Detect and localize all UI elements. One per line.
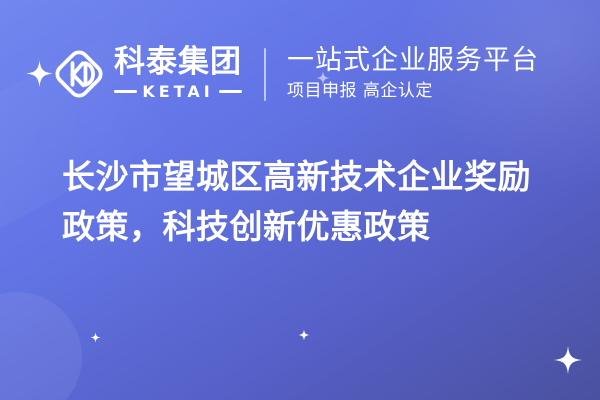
tagline-main: 一站式企业服务平台 (287, 46, 539, 76)
bottom-left-circle (0, 292, 82, 400)
sparkle-bottom-left-dot-icon (90, 332, 101, 343)
tagline-sub: 项目申报 高企认定 (287, 80, 539, 102)
logo-english-name: KETAI (142, 82, 213, 101)
logo-rule-right (219, 90, 242, 93)
sparkle-bottom-mid-dot-icon (298, 329, 310, 341)
logo-rule-left (114, 90, 137, 93)
company-logo: 科泰集团 KETAI (52, 47, 242, 101)
header-divider (264, 48, 266, 101)
page-title: 长沙市望城区高新技术企业奖励政策，科技创新优惠政策 (62, 152, 562, 252)
sparkle-bottom-right-icon (554, 346, 582, 374)
tagline-block: 一站式企业服务平台 项目申报 高企认定 (287, 46, 539, 101)
logo-chinese-name: 科泰集团 (114, 47, 242, 79)
logo-english-row: KETAI (114, 82, 242, 101)
banner-header: 科泰集团 KETAI 一站式企业服务平台 项目申报 高企认定 (0, 36, 600, 112)
ketai-diamond-kd-logo-icon (52, 47, 106, 101)
logo-wordmark: 科泰集团 KETAI (114, 47, 242, 101)
promo-banner: 科泰集团 KETAI 一站式企业服务平台 项目申报 高企认定 长沙市望城区高新技… (0, 0, 600, 400)
